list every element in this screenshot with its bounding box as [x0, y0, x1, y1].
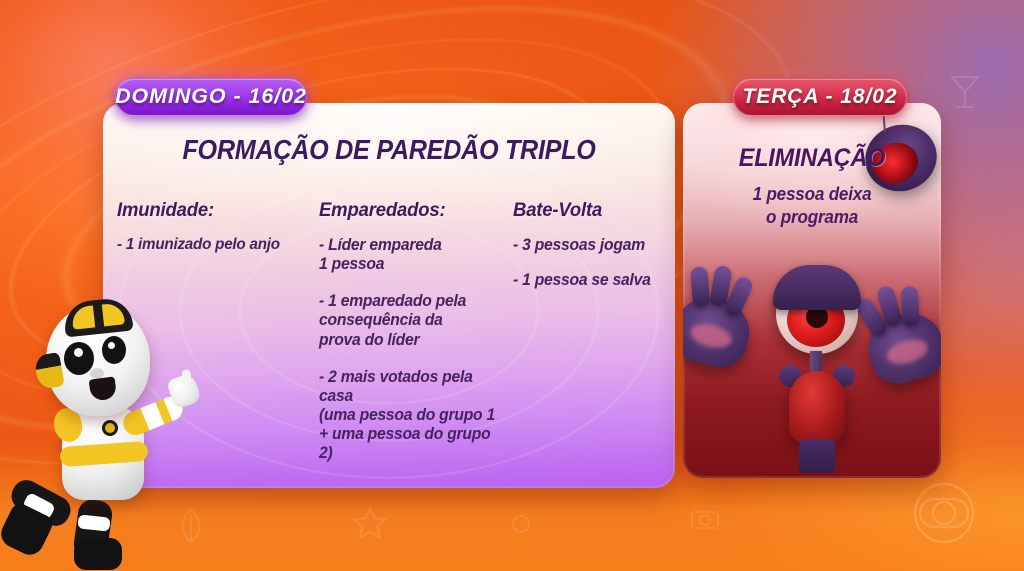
dot-icon	[510, 513, 532, 535]
column-emparedados: Emparedados: - Líder empareda 1 pessoa -…	[319, 199, 509, 481]
elimination-subtitle: 1 pessoa deixa o programa	[689, 183, 934, 228]
page-title: FORMAÇÃO DE PAREDÃO TRIPLO	[132, 134, 647, 166]
cocktail-glass-icon	[948, 72, 982, 112]
list-item: - 1 imunizado pelo anjo	[117, 236, 303, 255]
column-heading-emparedados: Emparedados:	[319, 199, 500, 222]
robot-hand-right	[861, 306, 941, 390]
camera-icon	[690, 507, 720, 531]
list-item: - 2 mais votados pela casa (uma pessoa d…	[319, 368, 500, 464]
broadcast-graphic-stage: FORMAÇÃO DE PAREDÃO TRIPLO Imunidade: - …	[0, 0, 1024, 571]
star-icon	[352, 505, 388, 541]
column-bate-volta: Bate-Volta - 3 pessoas jogam - 1 pessoa …	[513, 199, 673, 306]
robot-hand-left	[683, 291, 756, 373]
date-badge-terca: TERÇA - 18/02	[733, 78, 907, 116]
list-item: - 3 pessoas jogam	[513, 236, 665, 255]
column-heading-imunidade: Imunidade:	[117, 199, 303, 222]
list-item: - Líder empareda 1 pessoa	[319, 236, 500, 274]
globo-logo-icon	[912, 481, 976, 545]
list-item: - 1 pessoa se salva	[513, 271, 665, 290]
column-imunidade: Imunidade: - 1 imunizado pelo anjo	[117, 199, 313, 273]
column-heading-bate-volta: Bate-Volta	[513, 199, 665, 222]
list-item: - 1 emparedado pela consequência da prov…	[319, 292, 500, 349]
elimination-title: ELIMINAÇÃO	[691, 144, 934, 173]
mascot-robot	[2, 292, 202, 571]
date-badge-domingo: DOMINGO - 16/02	[115, 78, 307, 116]
elimination-card: ELIMINAÇÃO 1 pessoa deixa o programa	[683, 103, 941, 478]
